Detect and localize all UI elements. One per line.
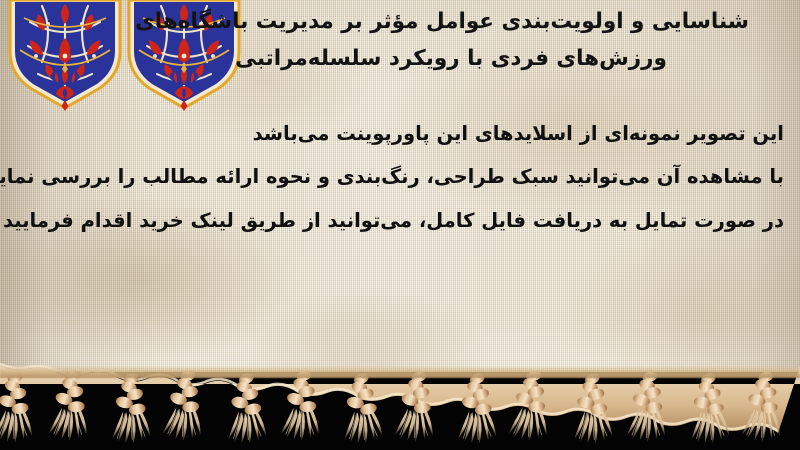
slide-title: شناسایی و اولویت‌بندی عوامل مؤثر بر مدیر… [126,4,786,78]
presentation-slide: شناسایی و اولویت‌بندی عوامل مؤثر بر مدیر… [0,0,800,450]
slide-body-line-1: این تصویر نمونه‌ای از اسلایدهای این پاور… [16,112,784,155]
slide-body-line-2: با مشاهده آن می‌توانید سبک طراحی، رنگ‌بن… [16,155,784,198]
slide-title-line-1: شناسایی و اولویت‌بندی عوامل مؤثر بر مدیر… [126,4,758,41]
slide-body: این تصویر نمونه‌ای از اسلایدهای این پاور… [16,112,784,242]
black-band [0,372,800,450]
slide-body-line-3: در صورت تمایل به دریافت فایل کامل، می‌تو… [16,199,784,242]
slide-title-line-2: ورزش‌های فردی با رویکرد سلسله‌مراتبی [126,41,776,78]
